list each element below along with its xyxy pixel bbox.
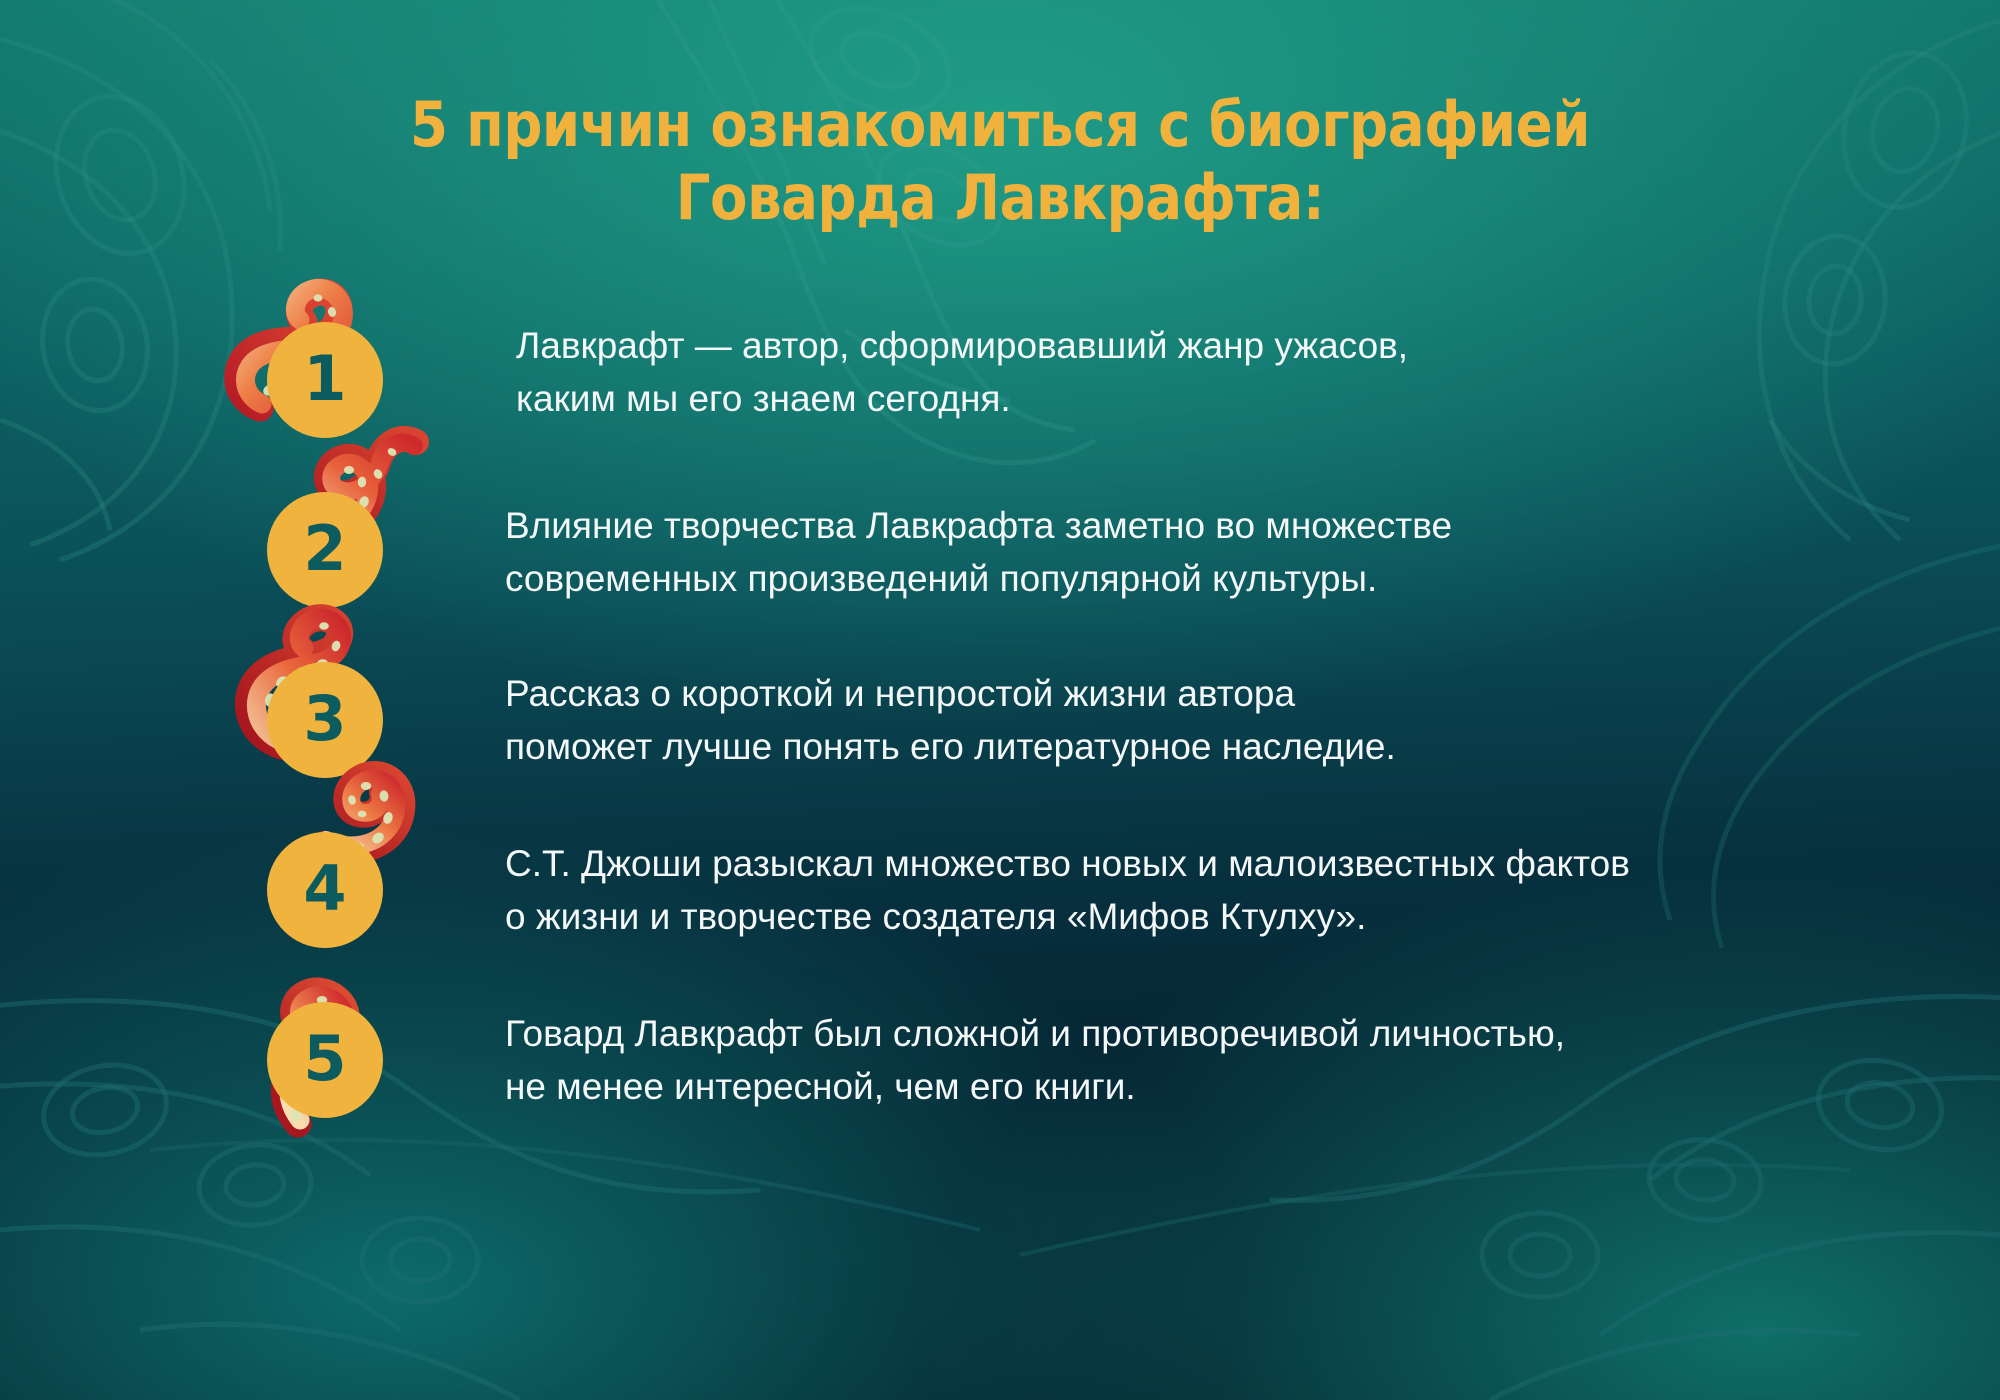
badge-number: 3 [303,688,346,750]
badge-number: 4 [303,858,346,920]
badge-number: 2 [303,518,346,580]
badge-number: 1 [303,348,346,410]
badge-5-group: 5 [212,980,442,1150]
list-item-text: Говард Лавкрафт был сложной и противореч… [505,1008,1925,1113]
list-item-line-2: каким мы его знаем сегодня. [516,373,1936,426]
infographic-slide: 5 причин ознакомиться с биографией Говар… [0,0,2000,1400]
badge-5: 5 [267,1002,383,1118]
list-item-text: Влияние творчества Лавкрафта заметно во … [505,500,1925,605]
list-item-line-1: Говард Лавкрафт был сложной и противореч… [505,1008,1925,1061]
list-item-line-2: современных произведений популярной куль… [505,553,1925,606]
title-line-1: 5 причин ознакомиться с биографией [120,88,1880,161]
list-item-line-2: не менее интересной, чем его книги. [505,1061,1925,1114]
list-item-line-2: о жизни и творчестве создателя «Мифов Кт… [505,891,1925,944]
list-item-text: Рассказ о короткой и непростой жизни авт… [505,668,1925,773]
list-item-text: Лавкрафт — автор, сформировавший жанр уж… [516,320,1936,425]
list-item-line-1: С.Т. Джоши разыскал множество новых и ма… [505,838,1925,891]
title-line-2: Говарда Лавкрафта: [120,161,1880,234]
list-item-line-1: Рассказ о короткой и непростой жизни авт… [505,668,1925,721]
badge-number: 5 [303,1028,346,1090]
list-item-line-2: поможет лучше понять его литературное на… [505,721,1925,774]
list-item: 5 Говард Лавкрафт был сложной и противор… [0,980,2000,1150]
list-item-line-1: Влияние творчества Лавкрафта заметно во … [505,500,1925,553]
list-item-text: С.Т. Джоши разыскал множество новых и ма… [505,838,1925,943]
reasons-list: 1 Лавкрафт — автор, сформировавший жанр … [0,300,2000,1150]
page-title: 5 причин ознакомиться с биографией Говар… [0,88,2000,234]
list-item-line-1: Лавкрафт — автор, сформировавший жанр уж… [516,320,1936,373]
